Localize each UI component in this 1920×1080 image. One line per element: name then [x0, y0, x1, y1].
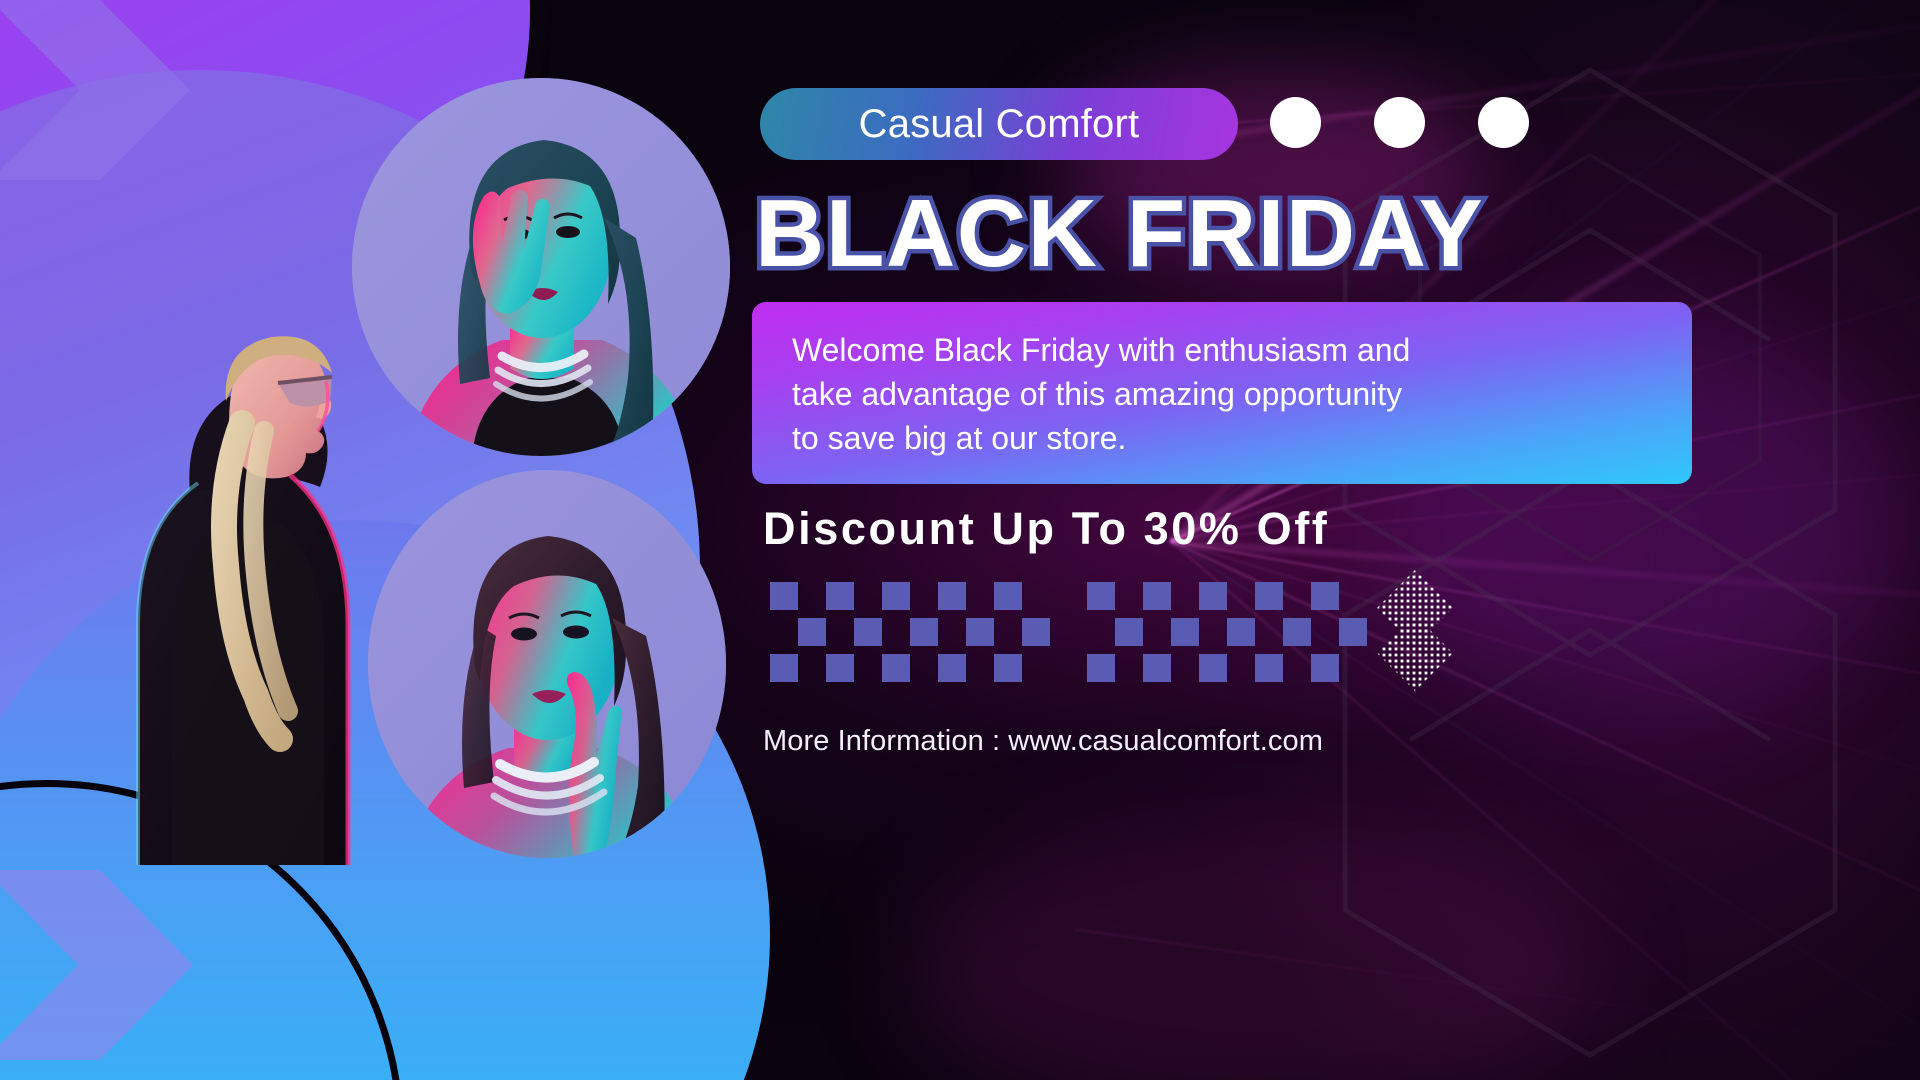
model-circle-top-photo	[352, 78, 730, 456]
discount-headline: Discount Up To 30% Off	[763, 503, 1329, 555]
more-information-text[interactable]: More Information : www.casualcomfort.com	[763, 725, 1323, 758]
decorative-dots-row	[1270, 97, 1529, 148]
black-friday-promo-banner: Casual Comfort BLACK FRIDAY Welcome Blac…	[0, 0, 1920, 1080]
promo-description-text: Welcome Black Friday with enthusiasm and…	[792, 328, 1432, 460]
dotted-diamond-pattern-icon	[1375, 568, 1455, 693]
chevron-arrow-bottom-icon	[0, 860, 205, 1070]
white-dot-icon-3	[1478, 97, 1529, 148]
page-title: BLACK FRIDAY	[755, 186, 1855, 282]
chevron-arrow-top-icon	[0, 0, 200, 190]
white-dot-icon-2	[1374, 97, 1425, 148]
promo-description-box: Welcome Black Friday with enthusiasm and…	[752, 302, 1692, 484]
white-dot-icon-1	[1270, 97, 1321, 148]
checkerboard-pattern-right	[1087, 582, 1367, 682]
model-circle-bottom-photo	[368, 470, 726, 858]
checkerboard-decor-group	[770, 582, 1367, 682]
content-column: Casual Comfort BLACK FRIDAY Welcome Blac…	[760, 0, 1920, 1080]
checkerboard-pattern-left	[770, 582, 1050, 682]
brand-label: Casual Comfort	[859, 104, 1140, 144]
brand-badge[interactable]: Casual Comfort	[760, 88, 1238, 160]
